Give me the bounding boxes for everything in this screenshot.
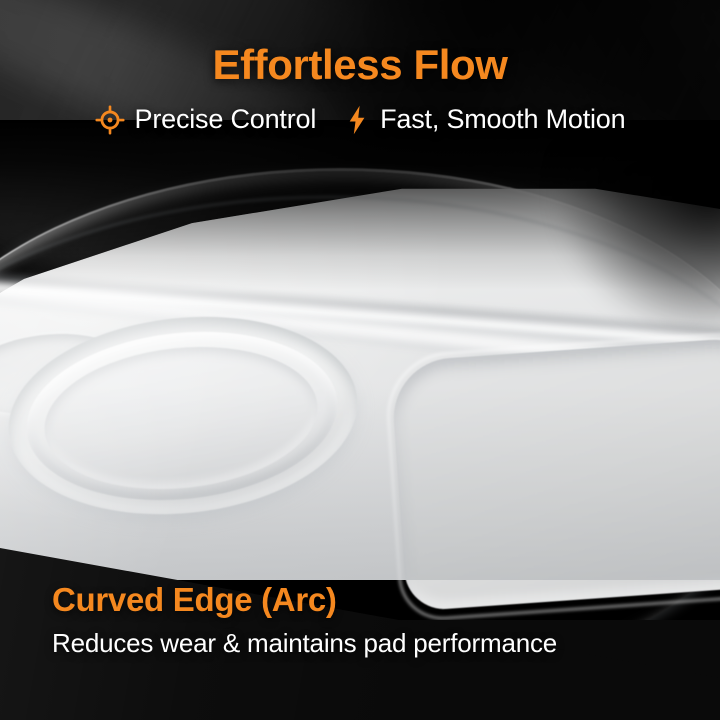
feature-label-precise-control: Precise Control	[135, 104, 317, 135]
feature-badge-row: Precise Control Fast, Smooth Motion	[0, 104, 720, 135]
headline: Effortless Flow	[0, 44, 720, 86]
crosshair-target-icon	[95, 105, 125, 135]
lightning-bolt-icon	[344, 105, 370, 135]
footer-text-block: Curved Edge (Arc) Reduces wear & maintai…	[52, 583, 692, 658]
product-feature-card: Effortless Flow Precise Control	[0, 0, 720, 720]
text-overlay: Effortless Flow Precise Control	[0, 0, 720, 720]
sub-headline: Curved Edge (Arc)	[52, 583, 692, 618]
footer-caption: Reduces wear & maintains pad performance	[52, 629, 692, 658]
feature-label-fast-smooth-motion: Fast, Smooth Motion	[380, 104, 625, 135]
